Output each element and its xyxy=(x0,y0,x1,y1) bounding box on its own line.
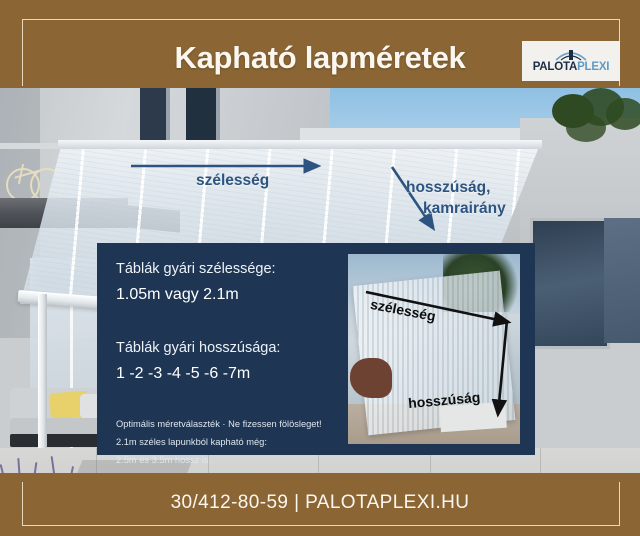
polycarbonate-sheet-photo: szélesség hosszúság xyxy=(348,254,520,444)
logo-word-plexi: PLEXI xyxy=(577,61,609,73)
contact-info[interactable]: 30/412-80-59 | PALOTAPLEXI.HU xyxy=(0,492,640,514)
fine-print-line-2: 2.1m széles lapunkból kapható még: xyxy=(116,437,356,447)
logo-wordmark: PALOTAPLEXI xyxy=(533,62,610,74)
specs-text-block: Táblák gyári szélessége: 1.05m vagy 2.1m… xyxy=(116,261,356,465)
fine-print-line-1: Optimális méretválaszték · Ne fizessen f… xyxy=(116,419,356,429)
arch-bridge-icon xyxy=(554,48,588,61)
roof-length-label-line2: kamrairány xyxy=(423,200,506,218)
photo-length-arrow xyxy=(498,320,507,414)
roof-length-label-line1: hosszúság, xyxy=(406,179,490,197)
upper-window-right xyxy=(186,88,216,140)
fine-print-line-3: 2.5m és 3.5m hossz is xyxy=(116,455,356,465)
tree-foliage xyxy=(548,88,640,166)
logo-word-palota: PALOTA xyxy=(533,61,577,73)
patio-door-far-right xyxy=(604,218,640,343)
upper-window-left xyxy=(140,88,166,140)
length-heading: Táblák gyári hosszúsága: xyxy=(116,340,356,356)
window-mullion xyxy=(166,88,170,140)
specs-panel: Táblák gyári szélessége: 1.05m vagy 2.1m… xyxy=(97,243,535,455)
width-value: 1.05m vagy 2.1m xyxy=(116,286,356,304)
palotaplexi-logo[interactable]: PALOTAPLEXI xyxy=(522,41,620,81)
length-value: 1 -2 -3 -4 -5 -6 -7m xyxy=(116,365,356,383)
infographic-root: szélesség hosszúság, kamrairány Táblák g… xyxy=(0,0,640,536)
patio-door-right xyxy=(530,218,610,349)
roof-width-label: szélesség xyxy=(196,172,269,190)
width-heading: Táblák gyári szélessége: xyxy=(116,261,356,277)
window-mullion xyxy=(216,88,220,140)
